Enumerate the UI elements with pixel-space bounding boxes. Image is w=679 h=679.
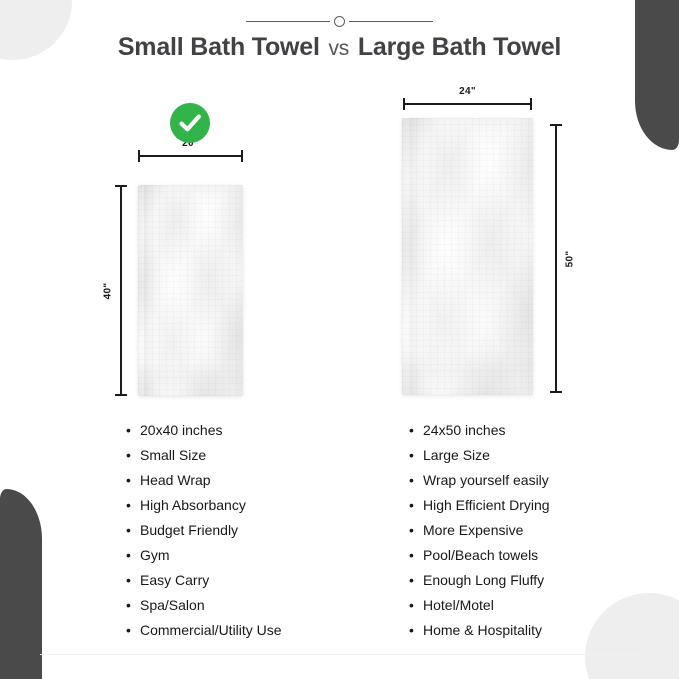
bullet-icon: • [126, 568, 140, 593]
corner-decoration-bottom-left [0, 489, 42, 679]
title-right-product: Large Bath Towel [358, 33, 561, 61]
list-item-label: High Absorbancy [140, 493, 246, 518]
left-towel-width-dimension: 20" [138, 150, 243, 162]
list-item-label: Large Size [423, 443, 490, 468]
list-item: • Head Wrap [126, 468, 282, 493]
right-width-bar [403, 103, 532, 105]
bullet-icon: • [409, 518, 423, 543]
bullet-icon: • [126, 543, 140, 568]
right-height-cap-end [550, 391, 562, 393]
left-feature-list: • 20x40 inches • Small Size • Head Wrap … [126, 418, 282, 643]
list-item-label: More Expensive [423, 518, 523, 543]
list-item-label: Hotel/Motel [423, 593, 494, 618]
list-item: • More Expensive [409, 518, 550, 543]
list-item: • Pool/Beach towels [409, 543, 550, 568]
list-item-label: Wrap yourself easily [423, 468, 549, 493]
ornament-line-right [349, 21, 433, 22]
left-towel-height-dimension: 40" [115, 185, 127, 396]
list-item: • 20x40 inches [126, 418, 282, 443]
right-towel-width-dimension: 24" [403, 98, 532, 110]
bullet-icon: • [126, 443, 140, 468]
list-item: • Gym [126, 543, 282, 568]
bullet-icon: • [409, 543, 423, 568]
list-item-label: Spa/Salon [140, 593, 205, 618]
ornament-circle-icon [334, 16, 345, 27]
right-width-cap-end [530, 98, 532, 110]
list-item-label: 20x40 inches [140, 418, 223, 443]
left-width-bar [138, 155, 243, 157]
left-height-label: 40" [103, 282, 114, 299]
left-width-cap-end [241, 150, 243, 162]
right-towel-height-dimension: 50" [550, 124, 562, 393]
small-towel-image [138, 185, 243, 396]
list-item-label: Enough Long Fluffy [423, 568, 544, 593]
bullet-icon: • [409, 618, 423, 643]
bullet-icon: • [409, 418, 423, 443]
bullet-icon: • [126, 593, 140, 618]
bullet-icon: • [409, 593, 423, 618]
list-item: • Commercial/Utility Use [126, 618, 282, 643]
ornament-line-left [246, 21, 330, 22]
page-title: Small Bath Towel vs Large Bath Towel [0, 33, 679, 62]
list-item-label: Budget Friendly [140, 518, 238, 543]
left-height-bar [120, 185, 122, 396]
bullet-icon: • [409, 568, 423, 593]
infographic-page: Small Bath Towel vs Large Bath Towel 20"… [0, 0, 679, 679]
list-item: • Home & Hospitality [409, 618, 550, 643]
bullet-icon: • [126, 493, 140, 518]
list-item-label: 24x50 inches [423, 418, 506, 443]
title-left-product: Small Bath Towel [118, 33, 320, 61]
list-item-label: Easy Carry [140, 568, 209, 593]
corner-decoration-bottom-right [585, 593, 679, 679]
list-item-label: Home & Hospitality [423, 618, 542, 643]
list-item: • Easy Carry [126, 568, 282, 593]
header-ornament [0, 16, 679, 27]
list-item: • High Absorbancy [126, 493, 282, 518]
bullet-icon: • [409, 493, 423, 518]
bullet-icon: • [126, 618, 140, 643]
bullet-icon: • [126, 418, 140, 443]
list-item-label: Small Size [140, 443, 206, 468]
list-item: • Budget Friendly [126, 518, 282, 543]
list-item-label: Head Wrap [140, 468, 211, 493]
bullet-icon: • [409, 468, 423, 493]
bullet-icon: • [126, 468, 140, 493]
list-item: • Large Size [409, 443, 550, 468]
right-feature-list: • 24x50 inches • Large Size • Wrap yours… [409, 418, 550, 643]
bullet-icon: • [409, 443, 423, 468]
list-item: • Enough Long Fluffy [409, 568, 550, 593]
bullet-icon: • [126, 518, 140, 543]
list-item-label: Commercial/Utility Use [140, 618, 282, 643]
list-item: • 24x50 inches [409, 418, 550, 443]
list-item: • Hotel/Motel [409, 593, 550, 618]
list-item-label: Gym [140, 543, 170, 568]
list-item: • Wrap yourself easily [409, 468, 550, 493]
check-circle-icon [170, 103, 210, 143]
list-item: • Spa/Salon [126, 593, 282, 618]
left-height-cap-end [115, 394, 127, 396]
right-width-label: 24" [403, 86, 532, 97]
right-height-bar [555, 124, 557, 393]
title-vs-separator: vs [327, 37, 352, 60]
list-item-label: Pool/Beach towels [423, 543, 538, 568]
list-item: • High Efficient Drying [409, 493, 550, 518]
right-height-label: 50" [565, 250, 576, 267]
list-item: • Small Size [126, 443, 282, 468]
bottom-divider [40, 654, 639, 655]
large-towel-image [402, 118, 533, 395]
list-item-label: High Efficient Drying [423, 493, 550, 518]
